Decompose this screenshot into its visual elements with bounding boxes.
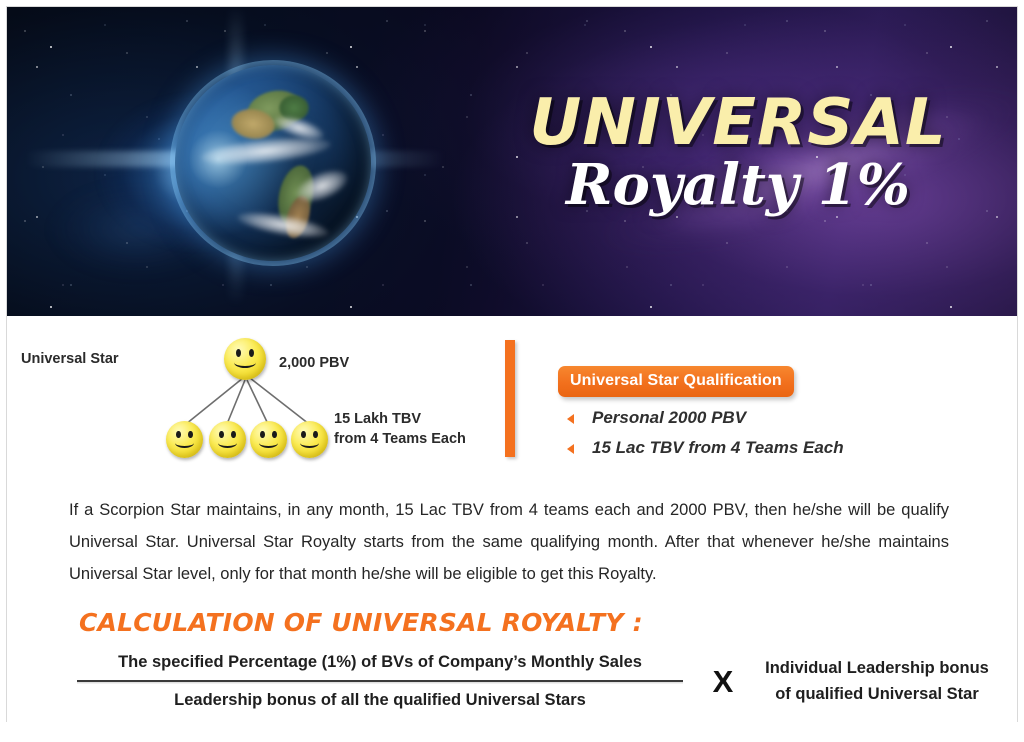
tree-label-tbv: 15 Lakh TBV from 4 Teams Each xyxy=(334,410,466,449)
smiley-mouth xyxy=(218,438,237,448)
smiley-mouth xyxy=(259,438,278,448)
fraction-bar xyxy=(77,680,683,682)
earth-illustration xyxy=(175,65,371,261)
smiley-face-icon-team-4 xyxy=(291,421,328,458)
earth-globe-icon xyxy=(175,65,371,261)
slide-page: UNIVERSAL Royalty 1% xyxy=(0,0,1024,742)
smiley-eye-right xyxy=(231,431,236,438)
qualification-badge-label: Universal Star Qualification xyxy=(570,372,782,389)
qualification-item-label: 15 Lac TBV from 4 Teams Each xyxy=(592,438,844,457)
qualification-item-label: Personal 2000 PBV xyxy=(592,408,746,427)
universal-star-tree-diagram: Universal Star 2,000 PBV 15 Lakh TBV fro… xyxy=(107,338,497,463)
formula-denominator: Leadership bonus of all the qualified Un… xyxy=(69,688,691,713)
banner-title-block: UNIVERSAL Royalty 1% xyxy=(503,91,973,213)
qualification-list: Personal 2000 PBV 15 Lac TBV from 4 Team… xyxy=(560,408,844,468)
formula-multiplier: Individual Leadership bonus of qualified… xyxy=(755,656,999,707)
formula-numerator: The specified Percentage (1%) of BVs of … xyxy=(69,650,691,675)
smiley-eye-left xyxy=(236,349,241,357)
tree-label-universal-star: Universal Star xyxy=(21,350,119,370)
smiley-eye-left xyxy=(301,431,306,438)
triangle-bullet-icon xyxy=(567,414,574,424)
qualification-list-item: 15 Lac TBV from 4 Teams Each xyxy=(560,438,844,458)
smiley-mouth xyxy=(175,438,194,448)
banner-title-main: UNIVERSAL xyxy=(503,91,973,155)
banner-title-sub: Royalty 1% xyxy=(503,157,973,213)
smiley-face-icon-root xyxy=(224,338,266,380)
smiley-face-icon-team-2 xyxy=(209,421,246,458)
description-paragraph: If a Scorpion Star maintains, in any mon… xyxy=(69,494,949,591)
smiley-eye-left xyxy=(176,431,181,438)
tree-label-pbv: 2,000 PBV xyxy=(279,354,349,374)
formula-multiplier-line1: Individual Leadership bonus xyxy=(765,659,989,677)
smiley-mouth xyxy=(300,438,319,448)
smiley-face-icon-team-1 xyxy=(166,421,203,458)
qualification-badge: Universal Star Qualification xyxy=(558,366,794,397)
calculation-heading: CALCULATION OF UNIVERSAL ROYALTY : xyxy=(79,608,643,637)
smiley-eye-left xyxy=(219,431,224,438)
triangle-bullet-icon xyxy=(567,444,574,454)
content-area: Universal Star 2,000 PBV 15 Lakh TBV fro… xyxy=(7,316,1017,722)
smiley-eye-left xyxy=(260,431,265,438)
qualification-accent-bar xyxy=(505,340,515,457)
smiley-eye-right xyxy=(188,431,193,438)
qualification-list-item: Personal 2000 PBV xyxy=(560,408,844,428)
smiley-eye-right xyxy=(249,349,254,357)
formula-multiplier-line2: of qualified Universal Star xyxy=(775,685,979,703)
hero-banner: UNIVERSAL Royalty 1% xyxy=(7,7,1017,316)
smiley-face-icon-team-3 xyxy=(250,421,287,458)
smiley-eye-right xyxy=(272,431,277,438)
multiplication-symbol: X xyxy=(691,664,755,700)
tree-label-tbv-line2: from 4 Teams Each xyxy=(334,431,466,447)
smiley-mouth xyxy=(234,357,256,368)
calculation-formula-row: The specified Percentage (1%) of BVs of … xyxy=(69,650,999,713)
formula-fraction: The specified Percentage (1%) of BVs of … xyxy=(69,650,691,713)
tree-label-tbv-line1: 15 Lakh TBV xyxy=(334,411,421,427)
smiley-eye-right xyxy=(313,431,318,438)
